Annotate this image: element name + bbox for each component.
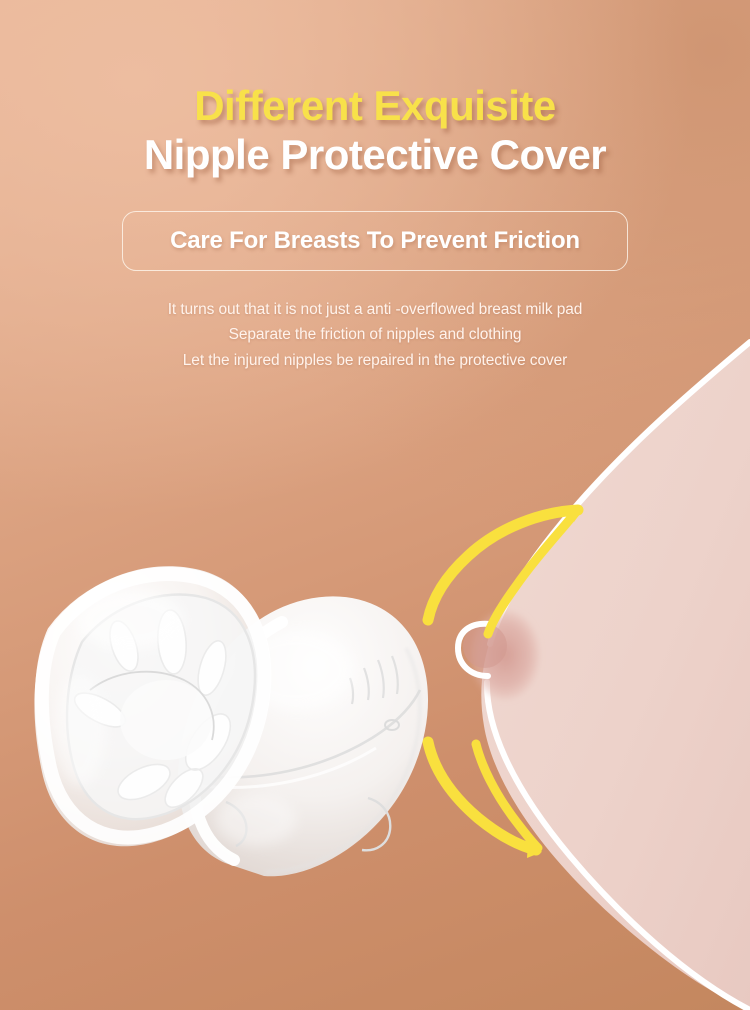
breast-shape xyxy=(458,342,750,1010)
description-line-2: Separate the friction of nipples and clo… xyxy=(0,322,750,347)
subtitle-box: Care For Breasts To Prevent Friction xyxy=(122,211,628,271)
areola xyxy=(471,611,539,699)
banner-title-line2: Nipple Protective Cover xyxy=(0,133,750,178)
banner-text-block: Different Exquisite Nipple Protective Co… xyxy=(0,0,750,373)
promo-banner: Different Exquisite Nipple Protective Co… xyxy=(0,0,750,1010)
description-block: It turns out that it is not just a anti … xyxy=(0,297,750,373)
product-photo-nipple-covers xyxy=(20,520,460,890)
description-line-1: It turns out that it is not just a anti … xyxy=(0,297,750,322)
description-line-3: Let the injured nipples be repaired in t… xyxy=(0,348,750,373)
subtitle-text: Care For Breasts To Prevent Friction xyxy=(170,227,580,255)
nipple xyxy=(463,624,507,668)
banner-title-line1: Different Exquisite xyxy=(0,84,750,129)
